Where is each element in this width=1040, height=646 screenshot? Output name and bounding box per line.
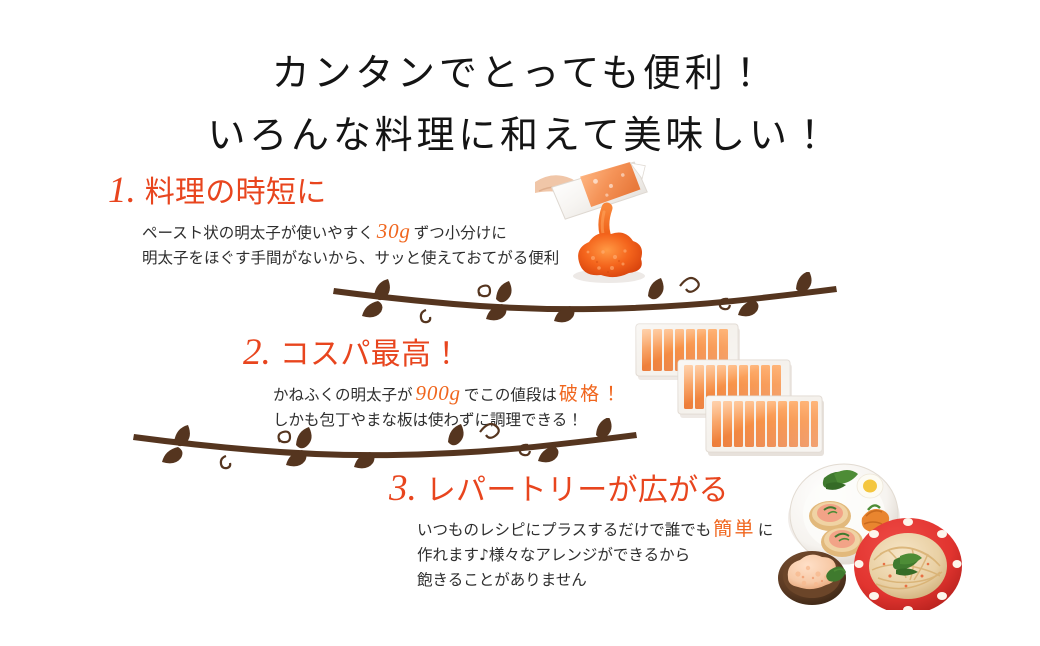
section-1-number: 1. <box>108 172 136 209</box>
headline-line-2: いろんな料理に和えて美味しい！ <box>0 104 1040 159</box>
advertisement-page: カンタンでとっても便利！ いろんな料理に和えて美味しい！ <box>0 0 1040 646</box>
headline-line-1: カンタンでとっても便利！ <box>0 42 1040 97</box>
section-2-heading: 2. コスパ最高！ <box>243 334 625 371</box>
section-3-body-line-1: いつものレシピにプラスするだけで誰でも簡単に <box>417 517 773 543</box>
section-3-body: いつものレシピにプラスするだけで誰でも簡単に 作れます♪様々なアレンジができるか… <box>417 517 773 593</box>
section-3: 3. レパートリーが広がる いつものレシピにプラスするだけで誰でも簡単に 作れま… <box>389 470 773 593</box>
section-1: 1. 料理の時短に ペースト状の明太子が使いやすく30gずつ小分けに 明太子をほ… <box>108 172 559 271</box>
section-2-highlight-bargain: 破格！ <box>557 383 625 405</box>
section-3-title: レパートリーが広がる <box>426 476 729 506</box>
section-1-text-after: ずつ小分けに <box>414 224 507 242</box>
section-2-text-middle: でこの値段は <box>464 386 557 404</box>
section-3-highlight-easy: 簡単 <box>711 518 758 540</box>
section-2-number: 2. <box>243 334 271 371</box>
mentaiko-dishes-photo <box>772 452 972 610</box>
section-1-body-line-1: ペースト状の明太子が使いやすく30gずつ小分けに <box>142 219 559 246</box>
section-1-body-line-2: 明太子をほぐす手間がないから、サッと使えておてがる便利 <box>142 246 559 271</box>
section-3-heading: 3. レパートリーが広がる <box>389 470 773 507</box>
section-2-body-line-1: かねふくの明太子が900gでこの値段は破格！ <box>273 381 625 408</box>
section-3-number: 3. <box>389 470 417 507</box>
section-2-title: コスパ最高！ <box>280 340 462 370</box>
section-3-text-after: に <box>758 521 774 539</box>
section-2-highlight-weight: 900g <box>413 381 464 405</box>
section-1-heading: 1. 料理の時短に <box>108 172 559 209</box>
section-3-body-line-2: 作れます♪様々なアレンジができるから <box>417 543 773 568</box>
section-1-highlight-weight: 30g <box>374 219 414 243</box>
section-1-body: ペースト状の明太子が使いやすく30gずつ小分けに 明太子をほぐす手間がないから、… <box>142 219 559 271</box>
section-1-text-before: ペースト状の明太子が使いやすく <box>142 224 374 242</box>
section-2-text-before: かねふくの明太子が <box>273 386 413 404</box>
section-1-title: 料理の時短に <box>145 178 327 208</box>
section-3-text-before: いつものレシピにプラスするだけで誰でも <box>417 521 711 539</box>
section-3-body-line-3: 飽きることがありません <box>417 568 773 593</box>
mentaiko-stick-packs-photo <box>632 322 828 458</box>
